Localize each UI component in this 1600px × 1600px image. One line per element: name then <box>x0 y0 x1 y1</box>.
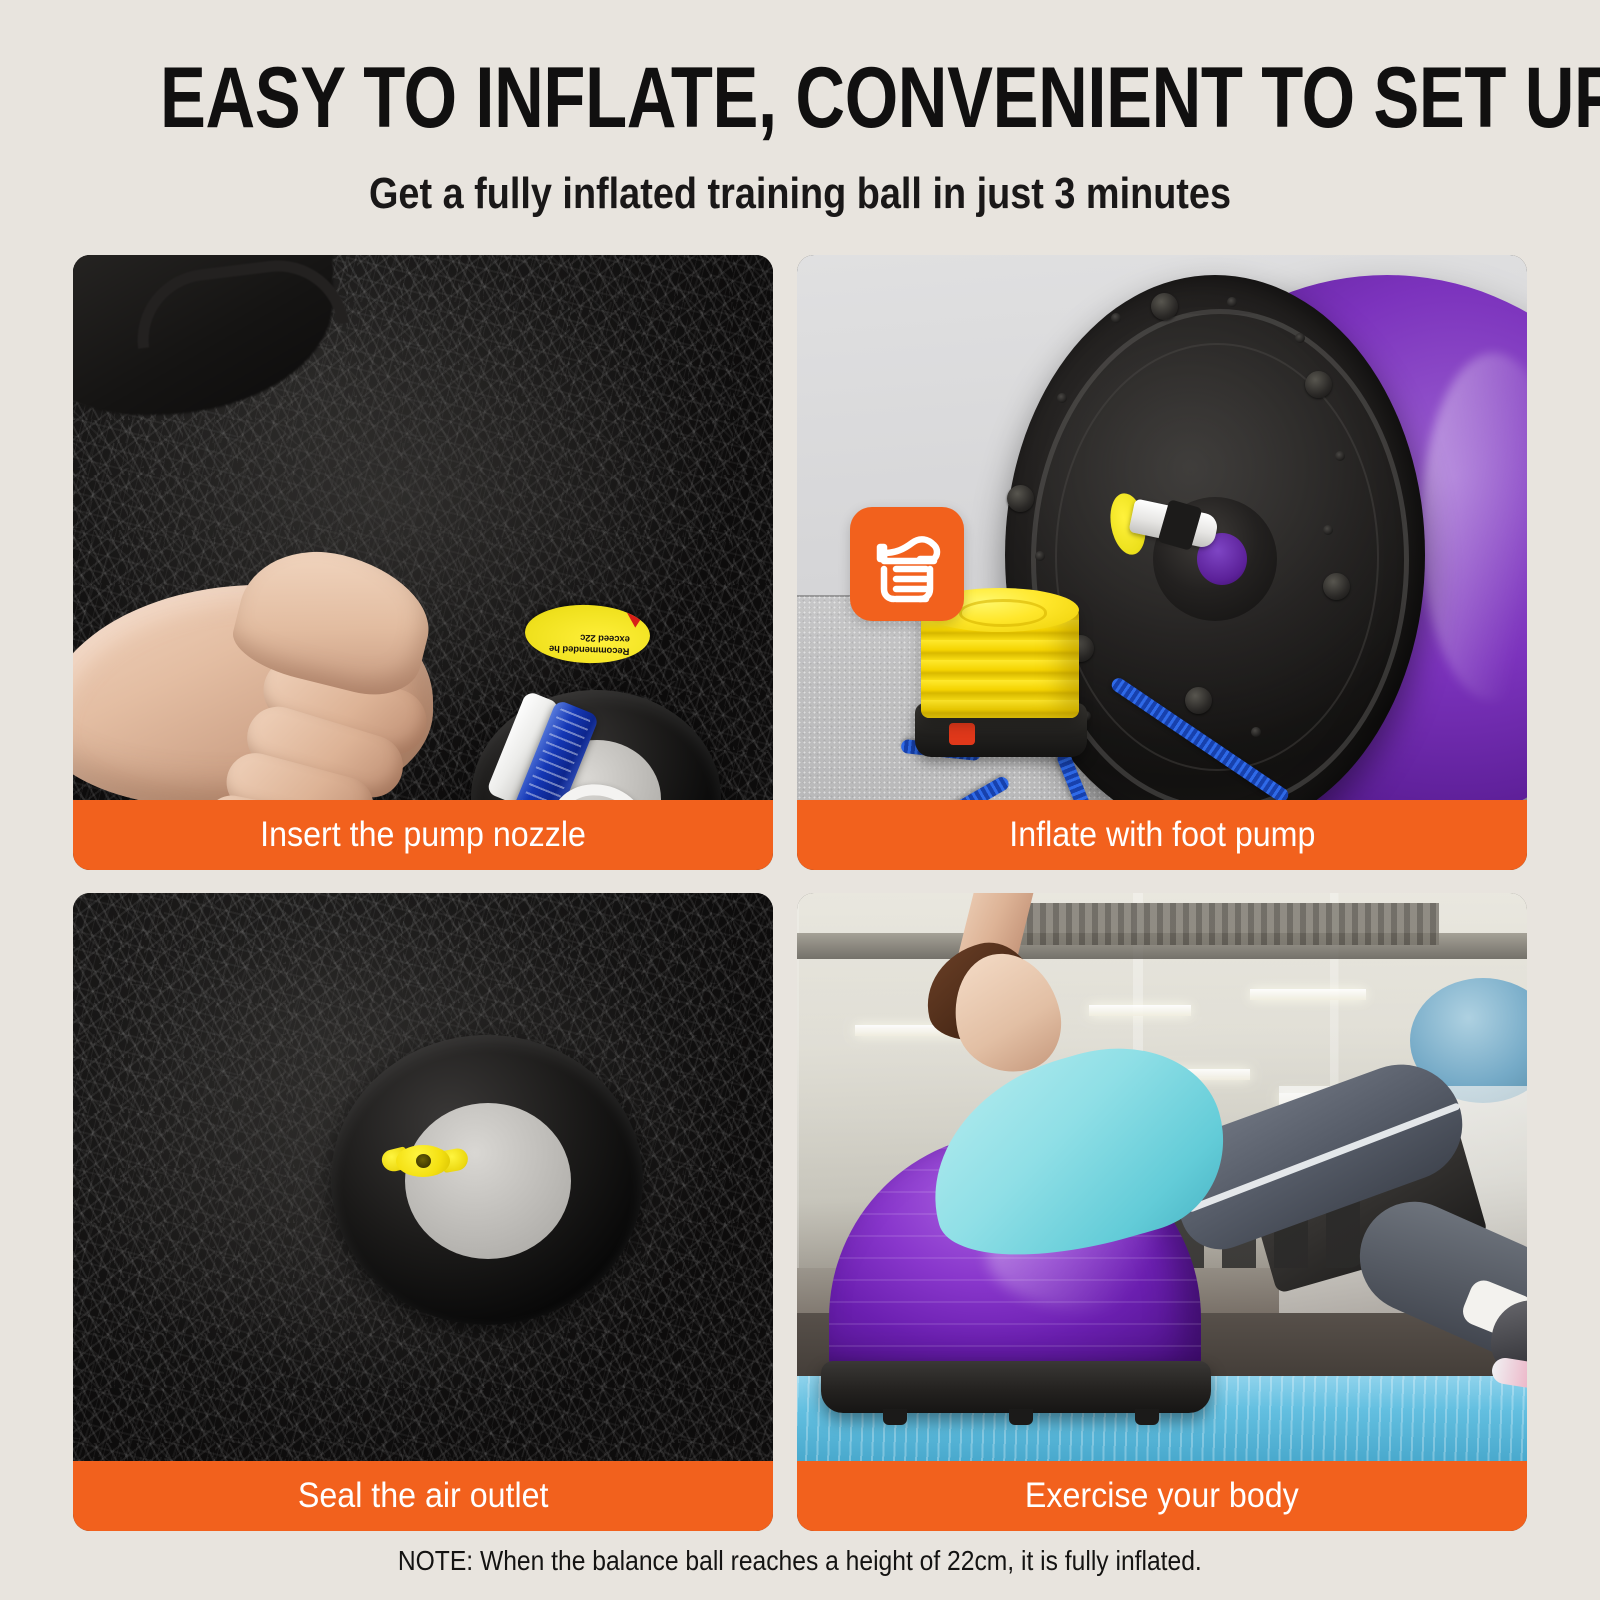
page-title: EASY TO INFLATE, CONVENIENT TO SET UP <box>160 50 1440 146</box>
base-screw <box>1227 297 1237 307</box>
base-foot <box>1009 1409 1033 1425</box>
base-screw <box>1035 551 1045 561</box>
valve-dish <box>331 1035 643 1325</box>
base-screw <box>1295 333 1305 343</box>
base-foot <box>1135 1409 1159 1425</box>
step-panel-seal-outlet[interactable]: Seal the air outlet <box>73 893 773 1531</box>
base-screw <box>1111 313 1121 323</box>
plug-hole <box>416 1154 431 1168</box>
step-panel-exercise[interactable]: Exercise your body <box>797 893 1527 1531</box>
foot-pump-valve <box>949 723 975 745</box>
yellow-valve-plug <box>382 1141 468 1181</box>
base-bolt <box>1305 371 1332 398</box>
page-subtitle: Get a fully inflated training ball in ju… <box>112 167 1488 221</box>
ceiling-light <box>1250 989 1367 1000</box>
base-screw <box>1323 525 1333 535</box>
base-bolt <box>1151 293 1178 320</box>
step-panel-inflate-with-pump[interactable]: Inflate with foot pump <box>797 255 1527 870</box>
base-screw <box>1057 393 1067 403</box>
photo-inflate-with-pump <box>797 255 1527 800</box>
step-panel-insert-nozzle[interactable]: Recommended he exceed 22c Insert the pum… <box>73 255 773 870</box>
balance-ball-base <box>821 1361 1211 1413</box>
caption-inflate-with-pump: Inflate with foot pump <box>797 800 1527 870</box>
base-foot <box>883 1409 907 1425</box>
base-bolt <box>1185 687 1212 714</box>
caption-seal-outlet: Seal the air outlet <box>73 1461 773 1531</box>
base-screw <box>1335 451 1345 461</box>
hand <box>73 555 493 800</box>
photo-insert-nozzle: Recommended he exceed 22c <box>73 255 773 800</box>
warning-triangle-icon <box>626 612 645 628</box>
ceiling-truss <box>1001 903 1439 945</box>
valve-inner-disc <box>405 1103 571 1259</box>
header: EASY TO INFLATE, CONVENIENT TO SET UP Ge… <box>0 0 1600 250</box>
photo-exercise <box>797 893 1527 1461</box>
base-bolt <box>1323 573 1350 600</box>
caption-insert-nozzle: Insert the pump nozzle <box>73 800 773 870</box>
base-screw <box>1251 727 1261 737</box>
ceiling-light <box>1089 1005 1191 1016</box>
foot-pump-icon <box>850 507 964 621</box>
caption-exercise: Exercise your body <box>797 1461 1527 1531</box>
base-bolt <box>1007 485 1034 512</box>
photo-seal-outlet <box>73 893 773 1461</box>
note-text: NOTE: When the balance ball reaches a he… <box>0 1543 1600 1579</box>
